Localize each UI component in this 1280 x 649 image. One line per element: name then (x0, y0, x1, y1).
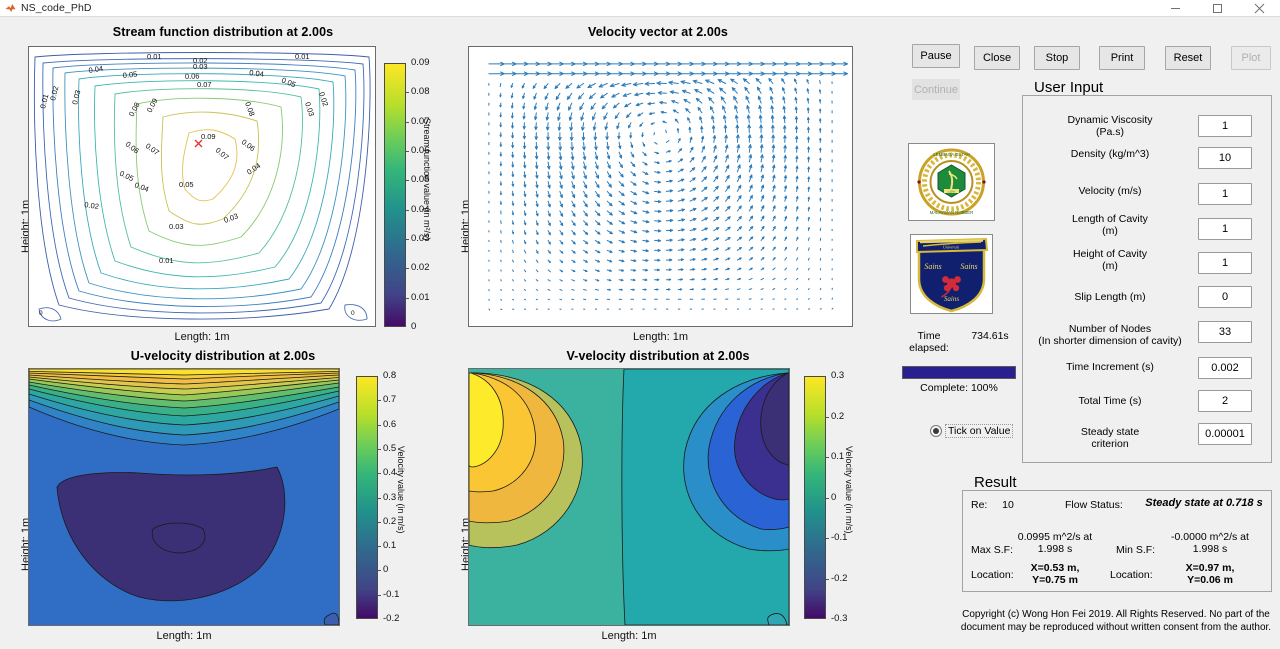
velocity-vector-plot-panel: Velocity vector at 2.00s Height: 1m Leng… (448, 25, 868, 345)
svg-text:0.02: 0.02 (317, 91, 330, 108)
svg-text:0: 0 (351, 310, 355, 317)
stream-function-axes[interactable]: 0.01 0.02 0.03 0.01 0.04 0.05 0.06 0.07 … (28, 46, 376, 327)
colorbar-tick-label: 0.8 (383, 371, 396, 380)
result-panel-title: Result (970, 475, 1021, 490)
colorbar-tick-mark (406, 298, 409, 299)
main-workspace: Stream function distribution at 2.00s He… (0, 17, 1280, 643)
u-velocity-plot-title: U-velocity distribution at 2.00s (8, 349, 438, 364)
label-slip-length: Slip Length (m) (1028, 291, 1192, 303)
u-velocity-plot-panel: U-velocity distribution at 2.00s Height:… (8, 349, 438, 649)
plot-button: Plot (1231, 46, 1271, 70)
min-sf-value: -0.0000 m^2/s at1.998 s (1160, 531, 1260, 555)
svg-text:0.07: 0.07 (197, 80, 212, 89)
user-input-panel-title: User Input (1030, 80, 1107, 95)
v-velocity-colorbar: 0.30.20.10-0.1-0.2-0.3 Velocity value (i… (804, 368, 864, 626)
colorbar-tick-label: 0.3 (383, 493, 396, 502)
colorbar-tick-mark (378, 449, 381, 450)
svg-text:0.05: 0.05 (122, 70, 137, 80)
colorbar-tick-mark (378, 400, 381, 401)
maximize-icon[interactable] (1196, 0, 1238, 17)
svg-text:0.04: 0.04 (249, 68, 265, 79)
u-velocity-colorbar-label: Velocity value (in m/s) (396, 446, 406, 534)
matlab-icon (5, 3, 16, 14)
tick-on-value-radio-dot (933, 428, 939, 434)
svg-text:0: 0 (39, 310, 43, 317)
v-velocity-colorbar-gradient (804, 376, 826, 619)
close-icon[interactable] (1238, 0, 1280, 17)
colorbar-tick-label: 0.5 (383, 444, 396, 453)
colorbar-tick-mark (406, 210, 409, 211)
max-location-label: Location: (971, 569, 1014, 581)
colorbar-tick-mark (378, 522, 381, 523)
input-height-of-cavity[interactable]: 1 (1198, 252, 1252, 274)
svg-text:0.05: 0.05 (280, 76, 297, 90)
label-total-time: Total Time (s) (1028, 395, 1192, 407)
colorbar-tick-label: -0.2 (383, 614, 399, 623)
svg-text:0.03: 0.03 (169, 222, 184, 231)
university-crest-logo: Universiti Sains Sains Sains (910, 234, 993, 314)
velocity-vector-xlabel: Length: 1m (468, 331, 853, 344)
colorbar-tick-label: 0.6 (383, 420, 396, 429)
colorbar-tick-mark (406, 122, 409, 123)
input-velocity[interactable]: 1 (1198, 183, 1252, 205)
colorbar-tick-label: 0 (411, 322, 416, 331)
svg-text:0.06: 0.06 (124, 139, 141, 155)
colorbar-tick-label: 0.4 (383, 468, 396, 477)
colorbar-tick-mark (406, 180, 409, 181)
colorbar-tick-mark (826, 498, 829, 499)
svg-text:0.04: 0.04 (245, 161, 262, 177)
svg-text:0.03: 0.03 (193, 62, 208, 71)
svg-text:0.08: 0.08 (243, 101, 256, 118)
colorbar-tick-label: 0.01 (411, 293, 430, 302)
v-velocity-xlabel: Length: 1m (468, 630, 790, 643)
re-label: Re: (971, 499, 987, 511)
malaysian-rubber-board-logo: LGM LEMBAGA GETAH MALAYSIAN RUBBER (908, 143, 995, 221)
svg-text:Sains: Sains (944, 295, 959, 303)
colorbar-tick-label: -0.3 (831, 614, 847, 623)
time-elapsed-value: 734.61s (962, 330, 1018, 342)
svg-text:Sains: Sains (924, 262, 941, 271)
flow-status-value: Steady state at 0.718 s (1140, 497, 1268, 509)
min-location-value: X=0.97 m,Y=0.06 m (1164, 562, 1256, 586)
flow-status-label: Flow Status: (1065, 499, 1123, 511)
input-dynamic-viscosity[interactable]: 1 (1198, 115, 1252, 137)
label-steady-state-criterion: Steady statecriterion (1028, 426, 1192, 450)
colorbar-tick-mark (378, 595, 381, 596)
colorbar-tick-label: 0.08 (411, 87, 430, 96)
svg-text:0.07: 0.07 (214, 146, 231, 162)
u-velocity-xlabel: Length: 1m (28, 630, 340, 643)
label-density: Density (kg/m^3) (1028, 148, 1192, 160)
colorbar-tick-mark (406, 268, 409, 269)
min-sf-label: Min S.F: (1116, 544, 1155, 556)
colorbar-tick-label: -0.1 (383, 590, 399, 599)
colorbar-tick-mark (826, 417, 829, 418)
window-title: NS_code_PhD (21, 2, 92, 14)
svg-text:0.05: 0.05 (118, 169, 135, 183)
svg-text:LEMBAGA GETAH: LEMBAGA GETAH (933, 152, 969, 157)
stream-function-colorbar: 0.090.080.070.060.050.040.030.020.010 St… (384, 46, 438, 327)
colorbar-tick-label: 0 (383, 565, 388, 574)
re-value: 10 (996, 499, 1020, 511)
print-button[interactable]: Print (1099, 46, 1145, 70)
svg-text:0.09: 0.09 (145, 97, 160, 114)
max-location-value: X=0.53 m,Y=0.75 m (1016, 562, 1094, 586)
v-velocity-plot-title: V-velocity distribution at 2.00s (448, 349, 868, 364)
svg-text:0.02: 0.02 (48, 85, 60, 101)
svg-text:0.03: 0.03 (303, 101, 316, 118)
colorbar-tick-mark (826, 538, 829, 539)
v-velocity-plot-panel: V-velocity distribution at 2.00s Height:… (448, 349, 868, 649)
continue-button: Continue (912, 79, 960, 100)
svg-text:0.01: 0.01 (159, 256, 174, 265)
quiver-arrows (489, 62, 848, 310)
svg-text:0.07: 0.07 (144, 141, 161, 157)
svg-text:Sains: Sains (960, 262, 977, 271)
colorbar-tick-label: 0.1 (383, 541, 396, 550)
v-velocity-colorbar-label: Velocity value (in m/s) (844, 446, 854, 534)
progress-bar-fill (903, 367, 1015, 378)
max-sf-value: 0.0995 m^2/s at1.998 s (1012, 531, 1098, 555)
u-velocity-colorbar-gradient (356, 376, 378, 619)
colorbar-tick-label: 0.3 (831, 371, 844, 380)
time-elapsed-label: Time elapsed: (902, 330, 956, 354)
velocity-vector-axes[interactable] (468, 46, 853, 327)
max-value-marker (195, 140, 202, 147)
colorbar-tick-label: 0.2 (383, 517, 396, 526)
input-length-of-cavity[interactable]: 1 (1198, 218, 1252, 240)
colorbar-tick-mark (406, 151, 409, 152)
label-velocity: Velocity (m/s) (1028, 185, 1192, 197)
svg-text:0.01: 0.01 (295, 52, 310, 61)
svg-text:0.05: 0.05 (179, 180, 194, 189)
input-total-time[interactable]: 2 (1198, 390, 1252, 412)
colorbar-tick-label: -0.1 (831, 533, 847, 542)
colorbar-tick-mark (378, 546, 381, 547)
minimize-icon[interactable] (1154, 0, 1196, 17)
velocity-vector-plot-title: Velocity vector at 2.00s (448, 25, 868, 40)
input-time-increment[interactable]: 0.002 (1198, 357, 1252, 379)
colorbar-tick-mark (406, 92, 409, 93)
svg-text:0.03: 0.03 (70, 89, 82, 105)
close-button[interactable]: Close (974, 46, 1020, 70)
copyright-notice: Copyright (c) Wong Hon Fei 2019. All Rig… (956, 609, 1276, 634)
label-height-of-cavity: Height of Cavity(m) (1028, 248, 1192, 272)
label-number-of-nodes: Number of Nodes(In shorter dimension of … (1028, 323, 1192, 347)
stop-button[interactable]: Stop (1034, 46, 1080, 70)
stream-function-plot-title: Stream function distribution at 2.00s (8, 25, 438, 40)
svg-text:0.01: 0.01 (38, 93, 50, 109)
colorbar-tick-mark (826, 579, 829, 580)
tick-on-value-radio[interactable] (930, 425, 942, 437)
label-length-of-cavity: Length of Cavity(m) (1028, 213, 1192, 237)
colorbar-tick-label: 0.09 (411, 58, 430, 67)
colorbar-tick-label: 0.2 (831, 412, 844, 421)
svg-text:0.04: 0.04 (133, 180, 150, 193)
colorbar-tick-label: 0.7 (383, 395, 396, 404)
svg-text:LGM: LGM (948, 190, 955, 194)
stream-function-xlabel: Length: 1m (28, 331, 376, 344)
stream-function-colorbar-label: Stream function value (in m²/s) (422, 118, 432, 241)
u-velocity-colorbar: 0.80.70.60.50.40.30.20.10-0.1-0.2 Veloci… (356, 368, 416, 626)
svg-text:0.03: 0.03 (223, 211, 240, 224)
progress-bar (902, 366, 1016, 379)
tick-on-value-label[interactable]: Tick on Value (946, 425, 1012, 437)
stream-function-colorbar-gradient (384, 63, 406, 327)
window-titlebar: NS_code_PhD (0, 0, 1280, 17)
svg-text:Universiti: Universiti (943, 245, 959, 250)
reset-button[interactable]: Reset (1165, 46, 1211, 70)
colorbar-tick-mark (378, 425, 381, 426)
colorbar-tick-label: 0.02 (411, 263, 430, 272)
v-velocity-axes[interactable] (468, 368, 790, 626)
input-slip-length[interactable]: 0 (1198, 286, 1252, 308)
colorbar-tick-mark (378, 570, 381, 571)
svg-text:MALAYSIAN RUBBER: MALAYSIAN RUBBER (930, 210, 973, 215)
svg-text:0.01: 0.01 (147, 52, 162, 61)
label-dynamic-viscosity: Dynamic Viscosity(Pa.s) (1028, 114, 1192, 138)
colorbar-tick-mark (826, 457, 829, 458)
min-location-label: Location: (1110, 569, 1153, 581)
progress-complete-label: Complete: 100% (902, 382, 1016, 394)
colorbar-tick-mark (378, 473, 381, 474)
max-sf-label: Max S.F: (971, 544, 1013, 556)
stream-function-plot-panel: Stream function distribution at 2.00s He… (8, 25, 438, 345)
svg-text:0.09: 0.09 (201, 132, 216, 141)
colorbar-tick-label: -0.2 (831, 574, 847, 583)
pause-button[interactable]: Pause (912, 44, 960, 68)
svg-text:0.06: 0.06 (240, 137, 257, 153)
u-velocity-axes[interactable] (28, 368, 340, 626)
label-time-increment: Time Increment (s) (1028, 361, 1192, 373)
colorbar-tick-label: 0 (831, 493, 836, 502)
svg-text:0.04: 0.04 (88, 64, 104, 75)
input-density[interactable]: 10 (1198, 147, 1252, 169)
input-number-of-nodes[interactable]: 33 (1198, 321, 1252, 343)
input-steady-state-criterion[interactable]: 0.00001 (1198, 423, 1252, 445)
colorbar-tick-mark (406, 239, 409, 240)
colorbar-tick-label: 0.1 (831, 452, 844, 461)
colorbar-tick-mark (378, 498, 381, 499)
